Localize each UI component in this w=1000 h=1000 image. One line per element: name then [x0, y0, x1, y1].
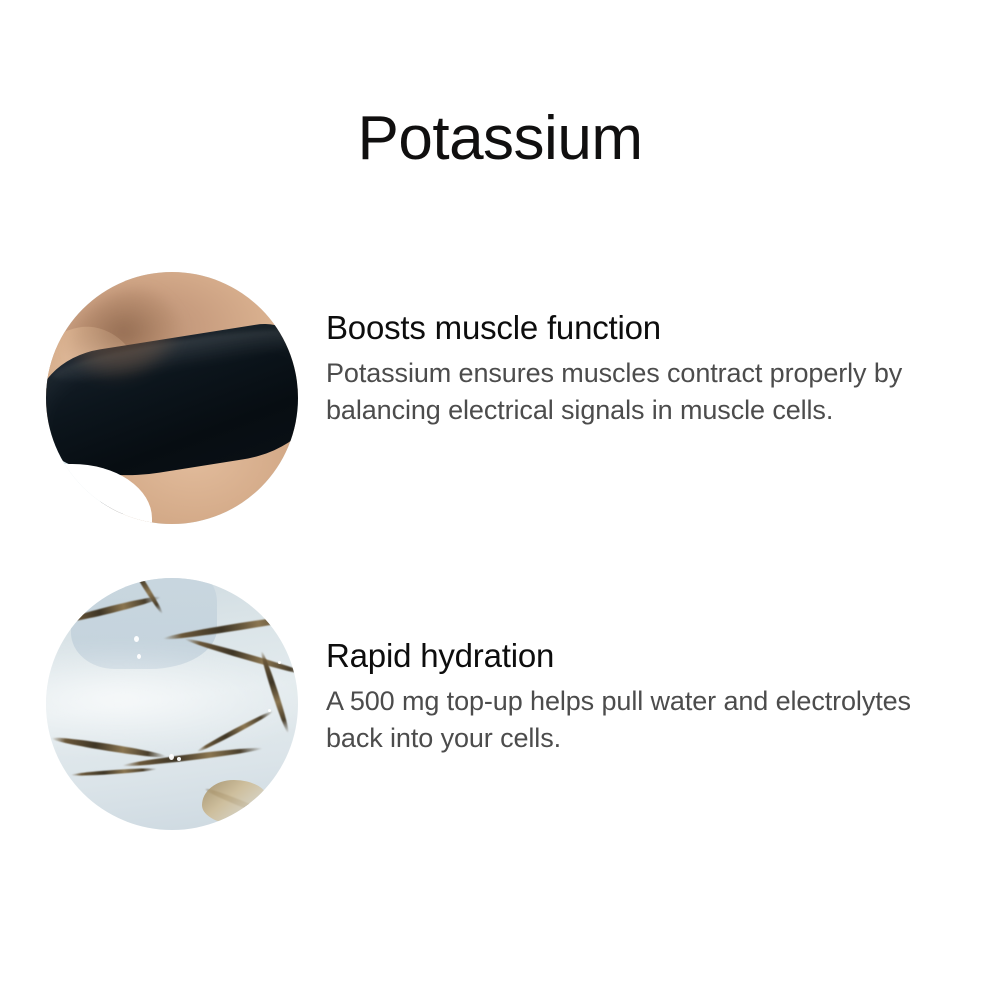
- photo-droplet: [137, 654, 141, 659]
- feature-row-boosts-muscle-function: Boosts muscle function Potassium ensures…: [0, 272, 1000, 524]
- feature-heading: Boosts muscle function: [326, 308, 1000, 348]
- photo-water-blob: [202, 780, 268, 825]
- page-title: Potassium: [0, 100, 1000, 178]
- water-photo-icon: [46, 578, 298, 830]
- photo-droplet: [177, 757, 181, 761]
- feature-row-rapid-hydration: Rapid hydration A 500 mg top-up helps pu…: [0, 578, 1000, 830]
- feature-text-rapid-hydration: Rapid hydration A 500 mg top-up helps pu…: [326, 578, 1000, 757]
- photo-droplet: [278, 661, 281, 664]
- feature-body: Potassium ensures muscles contract prope…: [326, 355, 956, 429]
- feature-image-boosts-muscle-function: [46, 272, 298, 524]
- feature-text-boosts-muscle-function: Boosts muscle function Potassium ensures…: [326, 272, 1000, 429]
- torso-photo-icon: [46, 272, 298, 524]
- photo-droplet: [268, 709, 271, 712]
- feature-image-rapid-hydration: [46, 578, 298, 830]
- infographic-page: Potassium Boosts muscle function Potassi…: [0, 0, 1000, 1000]
- feature-heading: Rapid hydration: [326, 636, 1000, 676]
- feature-body: A 500 mg top-up helps pull water and ele…: [326, 683, 956, 757]
- photo-wave-line: [71, 767, 157, 777]
